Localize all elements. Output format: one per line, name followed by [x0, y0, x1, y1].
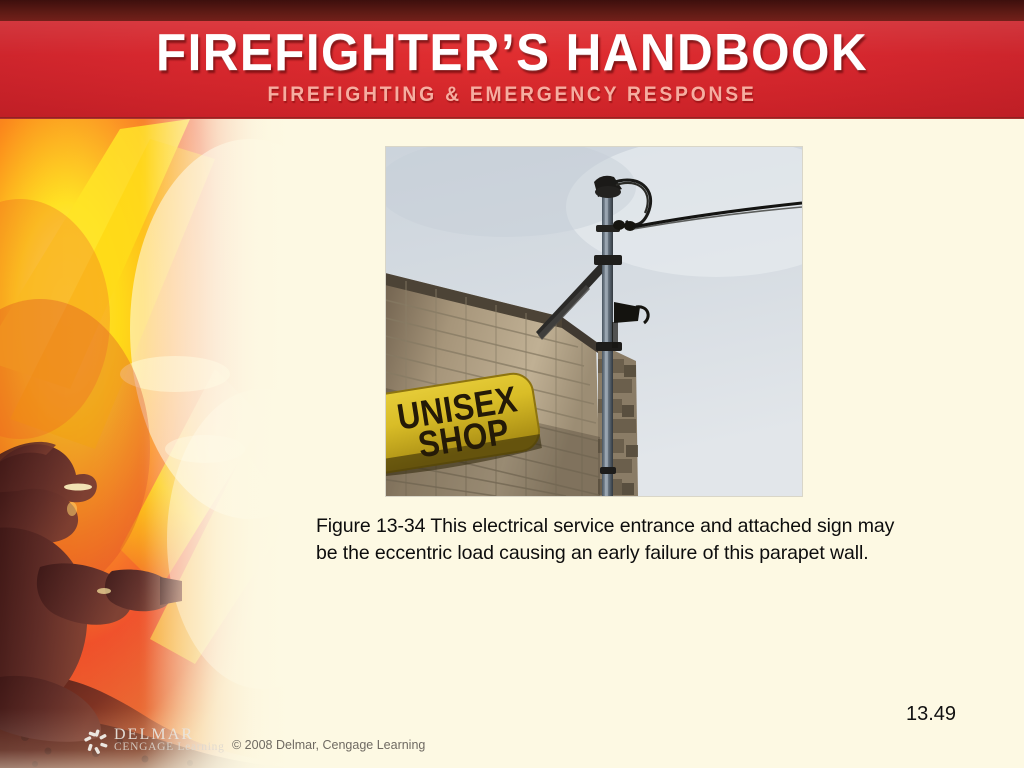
banner-top-strip: [0, 0, 1024, 21]
firefighter-sidebar-image: [0, 119, 302, 768]
logo-cengage-text: CENGAGE Learning: [114, 742, 225, 754]
header-banner: FIREFIGHTER’S HANDBOOK FIREFIGHTING & EM…: [0, 0, 1024, 119]
copyright-notice: © 2008 Delmar, Cengage Learning: [232, 738, 425, 752]
figure-photo: UNISEX SHOP: [386, 147, 802, 496]
figure-caption: Figure 13-34 This electrical service ent…: [316, 513, 906, 567]
banner-title: FIREFIGHTER’S HANDBOOK: [26, 27, 999, 79]
firefighter-flame-graphic: [0, 119, 302, 768]
parapet-wall-photograph: UNISEX SHOP: [386, 147, 802, 496]
cengage-starburst-icon: [84, 729, 110, 755]
banner-subtitle: FIREFIGHTING & EMERGENCY RESPONSE: [41, 84, 983, 105]
presentation-slide: FIREFIGHTER’S HANDBOOK FIREFIGHTING & EM…: [0, 0, 1024, 768]
slide-number: 13.49: [906, 703, 956, 726]
delmar-cengage-logo: DELMAR CENGAGE Learning: [84, 727, 224, 759]
